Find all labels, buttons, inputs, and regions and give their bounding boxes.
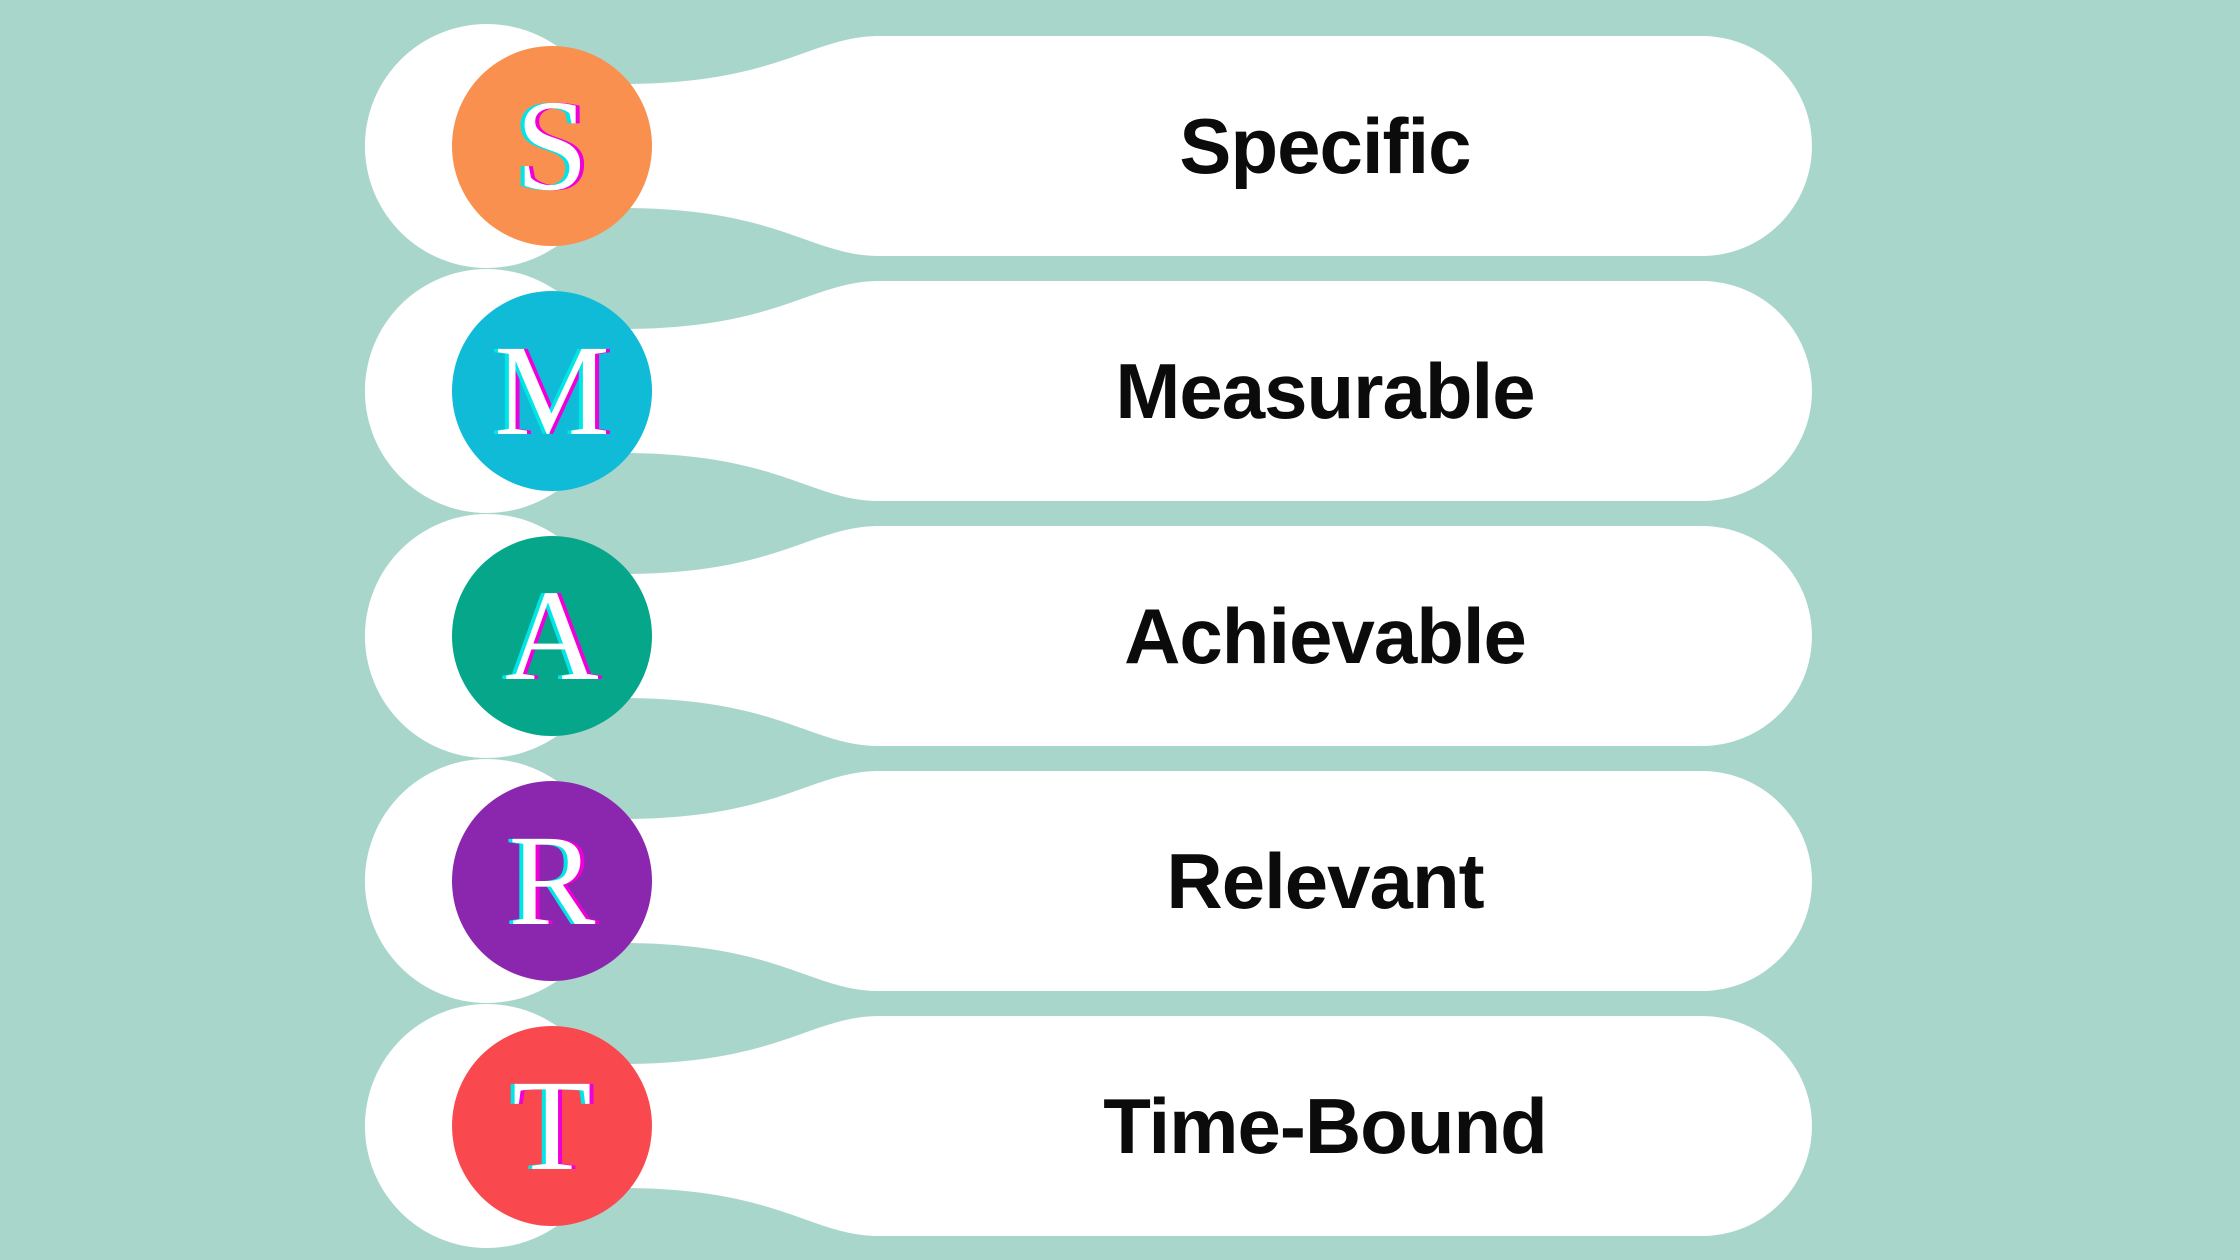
smart-row-a[interactable]: AAchievable xyxy=(0,510,2240,762)
initial-letter: A xyxy=(432,510,672,762)
smart-goals-infographic: SSpecificMMeasurableAAchievableRRelevant… xyxy=(0,0,2240,1260)
smart-row-t[interactable]: TTime-Bound xyxy=(0,1000,2240,1252)
row-label: Achievable xyxy=(840,510,1810,762)
initial-letter: S xyxy=(432,20,672,272)
initial-letter: T xyxy=(432,1000,672,1252)
row-label: Measurable xyxy=(840,265,1810,517)
row-label: Time-Bound xyxy=(840,1000,1810,1252)
smart-row-r[interactable]: RRelevant xyxy=(0,755,2240,1007)
smart-row-m[interactable]: MMeasurable xyxy=(0,265,2240,517)
smart-row-s[interactable]: SSpecific xyxy=(0,20,2240,272)
row-label: Specific xyxy=(840,20,1810,272)
row-label: Relevant xyxy=(840,755,1810,1007)
initial-letter: R xyxy=(432,755,672,1007)
initial-letter: M xyxy=(432,265,672,517)
